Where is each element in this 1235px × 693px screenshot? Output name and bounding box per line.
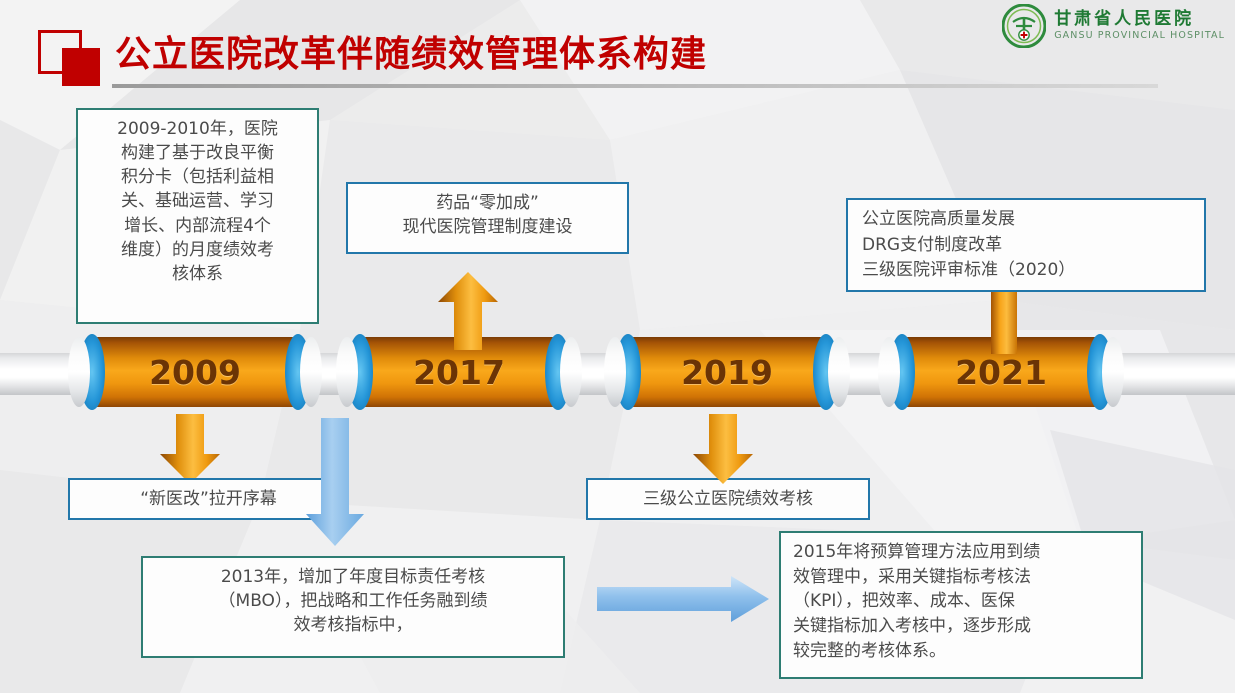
callout-box-sanji-gongli[interactable]: 三级公立医院绩效考核 (586, 478, 870, 520)
hospital-logo: 甘肃省人民医院 GANSU PROVINCIAL HOSPITAL (1002, 4, 1225, 48)
callout-box-2013[interactable]: 2013年，增加了年度目标责任考核 （MBO），把战略和工作任务融到绩 效考核指… (141, 556, 565, 658)
pipe-gap-right (300, 337, 322, 407)
logo-name-en: GANSU PROVINCIAL HOSPITAL (1054, 31, 1225, 41)
blue-down-arrow-icon (306, 418, 364, 546)
slide-header: 公立医院改革伴随绩效管理体系构建 甘肃省人民医院 GANSU PROVINCIA… (0, 0, 1235, 92)
timeline-segment-2019[interactable]: 2019 (628, 337, 826, 407)
timeline-year-label: 2019 (628, 337, 826, 407)
callout-box-2017[interactable]: 药品“零加成” 现代医院管理制度建设 (346, 182, 629, 254)
title-underline-rule (112, 84, 1158, 88)
pipe-gap-right (828, 337, 850, 407)
pipe-gap-left (68, 337, 90, 407)
logo-name-cn: 甘肃省人民医院 (1054, 11, 1225, 29)
logo-text-block: 甘肃省人民医院 GANSU PROVINCIAL HOSPITAL (1054, 11, 1225, 41)
hospital-emblem-icon (1002, 4, 1046, 48)
page-title: 公立医院改革伴随绩效管理体系构建 (115, 25, 707, 77)
timeline-segment-2009[interactable]: 2009 (92, 337, 298, 407)
slide-canvas: 公立医院改革伴随绩效管理体系构建 甘肃省人民医院 GANSU PROVINCIA… (0, 0, 1235, 693)
orange-down-arrow-icon (693, 414, 753, 484)
pipe-gap-left (336, 337, 358, 407)
orange-connector-icon (991, 292, 1017, 354)
orange-up-arrow-icon (438, 272, 498, 350)
title-decoration-filled-square (62, 48, 100, 86)
callout-box-2021[interactable]: 公立医院高质量发展 DRG支付制度改革 三级医院评审标准（2020） (846, 198, 1206, 292)
callout-box-2009[interactable]: 2009-2010年，医院 构建了基于改良平衡 积分卡（包括利益相 关、基础运营… (76, 108, 319, 324)
orange-down-arrow-icon (160, 414, 220, 484)
timeline-year-label: 2009 (92, 337, 298, 407)
callout-box-2015[interactable]: 2015年将预算管理方法应用到绩 效管理中，采用关键指标考核法 （KPI），把效… (779, 531, 1143, 679)
pipe-gap-right (1102, 337, 1124, 407)
blue-right-arrow-icon (597, 576, 769, 622)
pipe-gap-left (878, 337, 900, 407)
pipe-gap-left (604, 337, 626, 407)
pipe-gap-right (560, 337, 582, 407)
